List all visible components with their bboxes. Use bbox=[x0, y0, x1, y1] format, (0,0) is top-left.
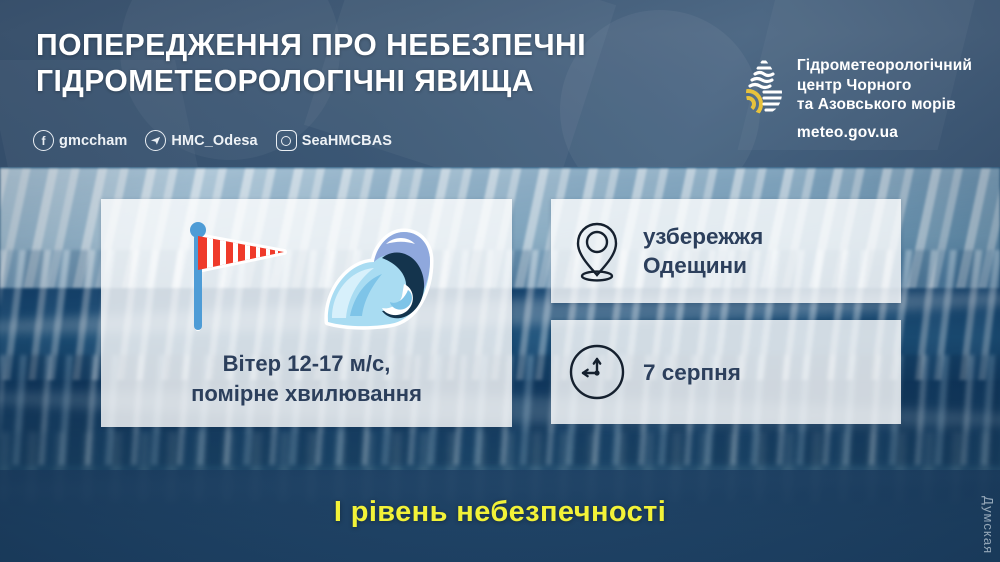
condition-card: Вітер 12-17 м/с, помірне хвилювання bbox=[101, 199, 512, 427]
location-text: узбережжя Одещини bbox=[643, 222, 763, 280]
condition-text: Вітер 12-17 м/с, помірне хвилювання bbox=[101, 349, 512, 409]
page-title: ПОПЕРЕДЖЕННЯ ПРО НЕБЕЗПЕЧНІ ГІДРОМЕТЕОРО… bbox=[36, 27, 586, 99]
condition-icons bbox=[101, 213, 512, 341]
date-card: 7 серпня bbox=[551, 320, 901, 424]
header-band: ПОПЕРЕДЖЕННЯ ПРО НЕБЕЗПЕЧНІ ГІДРОМЕТЕОРО… bbox=[0, 0, 1000, 167]
date-icon-wrap bbox=[551, 343, 643, 401]
facebook-handle: gmccham bbox=[59, 133, 127, 149]
social-link-telegram[interactable]: HMC_Odesa bbox=[145, 130, 257, 151]
social-link-instagram[interactable]: SeaHMCBAS bbox=[276, 130, 392, 151]
telegram-icon bbox=[145, 130, 166, 151]
telegram-handle: HMC_Odesa bbox=[171, 133, 257, 149]
facebook-icon: f bbox=[33, 130, 54, 151]
instagram-icon bbox=[276, 130, 297, 151]
storm-pennant-flag-icon bbox=[176, 214, 294, 340]
map-pin-icon bbox=[571, 219, 623, 283]
sea-wave-icon bbox=[316, 218, 438, 336]
location-card: узбережжя Одещини bbox=[551, 199, 901, 303]
organization-website[interactable]: meteo.gov.ua bbox=[797, 124, 972, 142]
social-link-facebook[interactable]: f gmccham bbox=[33, 130, 127, 151]
organization-branding: Гідрометеорологічний центр Чорного та Аз… bbox=[742, 56, 972, 142]
warning-infographic: ПОПЕРЕДЖЕННЯ ПРО НЕБЕЗПЕЧНІ ГІДРОМЕТЕОРО… bbox=[0, 0, 1000, 562]
social-links: f gmccham HMC_Odesa SeaHMCBAS bbox=[33, 130, 392, 151]
danger-level-text: I рівень небезпечності bbox=[0, 496, 1000, 529]
droplet-waves-sun-logo bbox=[742, 56, 786, 118]
organization-name: Гідрометеорологічний центр Чорного та Аз… bbox=[797, 56, 972, 115]
clock-icon bbox=[568, 343, 626, 401]
instagram-handle: SeaHMCBAS bbox=[302, 133, 392, 149]
date-text: 7 серпня bbox=[643, 358, 741, 387]
location-icon-wrap bbox=[551, 219, 643, 283]
watermark: Думская bbox=[981, 496, 996, 554]
